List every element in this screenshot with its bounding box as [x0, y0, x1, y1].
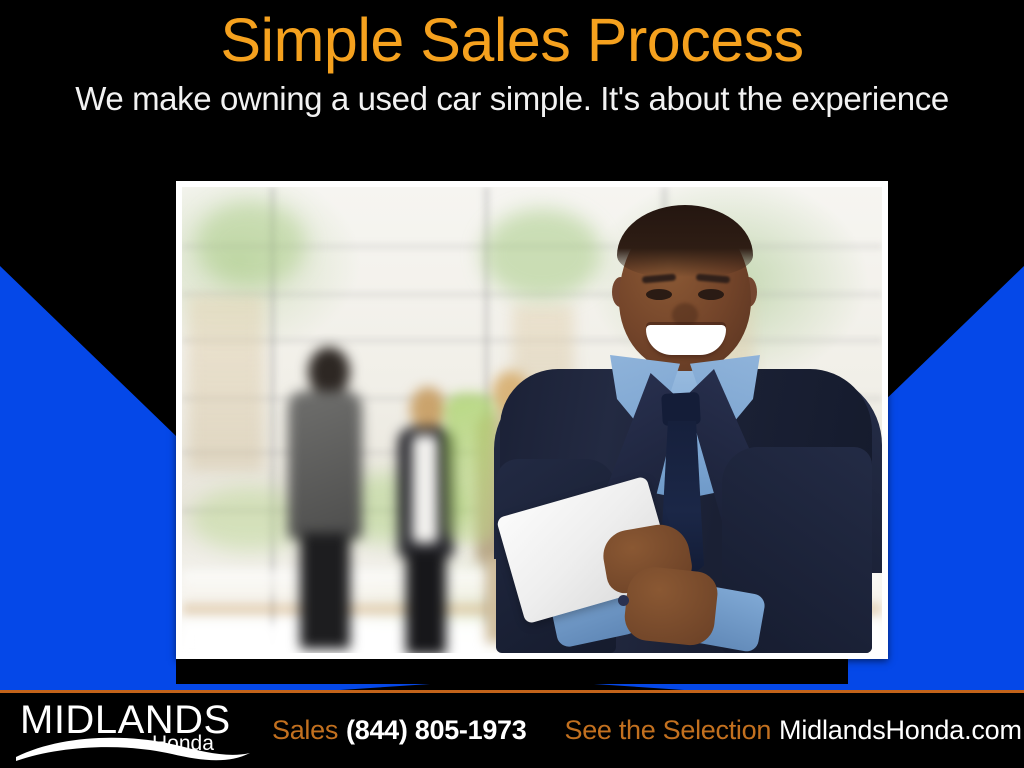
- hand-lower: [622, 564, 719, 647]
- footer-bar: MIDLANDS Honda Sales (844) 805-1973 See …: [0, 693, 1024, 768]
- sales-phone-number[interactable]: (844) 805-1973: [346, 715, 526, 746]
- hair: [617, 205, 753, 277]
- swoosh-icon: [14, 731, 254, 763]
- shelf-block: [188, 295, 264, 471]
- footer-contact-group: Sales (844) 805-1973 See the Selection M…: [272, 715, 1022, 746]
- dealer-logo[interactable]: MIDLANDS Honda: [14, 695, 254, 767]
- background-person-gray-suit: [286, 347, 364, 649]
- page-subtitle: We make owning a used car simple. It's a…: [0, 74, 1024, 119]
- necktie-knot: [661, 392, 701, 426]
- sales-label: Sales: [272, 715, 338, 746]
- see-the-selection-label: See the Selection: [564, 715, 771, 746]
- smile: [646, 325, 726, 355]
- eye-left: [646, 289, 672, 300]
- page-title: Simple Sales Process: [0, 0, 1024, 74]
- nose: [672, 303, 698, 327]
- jacket-button: [618, 595, 629, 606]
- background-person-green: [444, 393, 496, 543]
- photo-frame: [176, 181, 888, 659]
- hero-photo: [182, 187, 882, 653]
- header-block: Simple Sales Process We make owning a us…: [0, 0, 1024, 175]
- foreground-businessman: [500, 197, 872, 653]
- poster-canvas: Simple Sales Process We make owning a us…: [0, 0, 1024, 768]
- eye-right: [698, 289, 724, 300]
- website-url[interactable]: MidlandsHonda.com: [779, 715, 1022, 746]
- foliage-blur: [196, 201, 306, 287]
